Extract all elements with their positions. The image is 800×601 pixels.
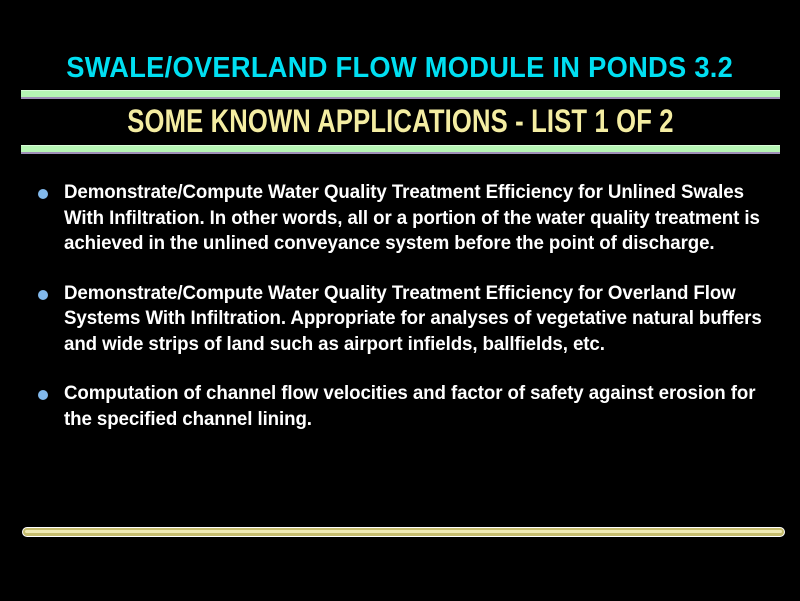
divider-rule-top xyxy=(21,90,780,99)
bullet-list: Demonstrate/Compute Water Quality Treatm… xyxy=(36,180,764,432)
bottom-accent-bar-highlight xyxy=(25,530,782,533)
slide-subtitle-text: SOME KNOWN APPLICATIONS - LIST 1 OF 2 xyxy=(127,103,673,139)
slide-title: SWALE/OVERLAND FLOW MODULE IN PONDS 3.2 xyxy=(0,52,800,84)
list-item: Demonstrate/Compute Water Quality Treatm… xyxy=(36,281,764,358)
list-item: Computation of channel flow velocities a… xyxy=(36,381,764,432)
list-item-text: Demonstrate/Compute Water Quality Treatm… xyxy=(64,180,763,257)
list-item-text: Computation of channel flow velocities a… xyxy=(64,381,763,432)
slide-title-text: SWALE/OVERLAND FLOW MODULE IN PONDS 3.2 xyxy=(67,52,734,84)
list-item: Demonstrate/Compute Water Quality Treatm… xyxy=(36,180,764,257)
bottom-accent-bar xyxy=(22,527,785,537)
divider-rule-bottom xyxy=(21,145,780,154)
bullet-dot-icon xyxy=(38,189,48,199)
slide-subtitle: SOME KNOWN APPLICATIONS - LIST 1 OF 2 xyxy=(0,103,800,139)
list-item-text: Demonstrate/Compute Water Quality Treatm… xyxy=(64,281,763,358)
presentation-slide: SWALE/OVERLAND FLOW MODULE IN PONDS 3.2 … xyxy=(0,0,800,601)
bullet-dot-icon xyxy=(38,290,48,300)
bullet-dot-icon xyxy=(38,390,48,400)
